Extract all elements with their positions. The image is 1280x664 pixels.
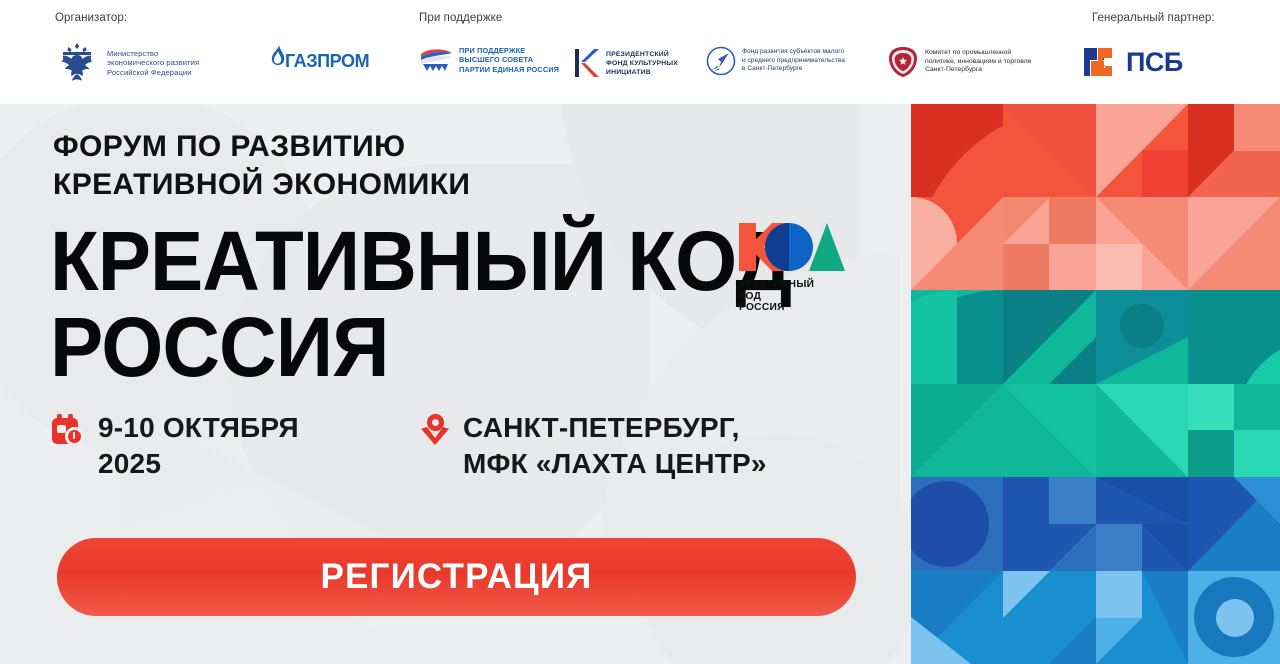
pattern-cell [911, 384, 1003, 477]
pattern-cell [1003, 197, 1096, 290]
pattern-cell [1096, 104, 1188, 197]
logo-spb-committee[interactable]: Комитет по промышленной политике, иннова… [888, 46, 1032, 78]
logo-psb[interactable]: ПСБ [1082, 46, 1183, 78]
pattern-cell [1096, 197, 1188, 290]
logo-presidential-fund-text: ПРЕЗИДЕНТСКИЙ ФОНД КУЛЬТУРНЫХ ИНИЦИАТИВ [606, 50, 678, 77]
spb-committee-crest-icon [888, 46, 918, 78]
general-partner-label: Генеральный партнер: [1092, 12, 1215, 24]
logo-psb-word: ПСБ [1126, 47, 1183, 78]
organizer-label: Организатор: [55, 12, 127, 24]
logo-edinaya-rossiya[interactable]: ПРИ ПОДДЕРЖКЕ ВЫСШЕГО СОВЕТА ПАРТИИ ЕДИН… [420, 46, 559, 74]
logo-sme-fund-text: Фонд развития субъектов малого и среднег… [742, 48, 845, 74]
pattern-cell [1188, 384, 1280, 477]
kkr-logo-shapes [739, 223, 845, 271]
kreativny-kod-rossiya-logo[interactable]: КРЕАТИВНЫЙ КОД РОССИЯ [739, 223, 851, 311]
edinaya-rossiya-flag-icon [420, 46, 454, 74]
psb-mark-icon [1082, 46, 1118, 78]
logo-ministry-text: Министерство экономического развития Рос… [107, 49, 199, 78]
pattern-cell [1096, 571, 1188, 664]
event-date: 9-10 ОКТЯБРЯ 2025 [52, 410, 299, 482]
logo-sme-fund-spb[interactable]: Фонд развития субъектов малого и среднег… [706, 46, 845, 76]
pattern-cell [1003, 571, 1096, 664]
pattern-cell [911, 477, 1003, 571]
kkr-letter-d-icon [809, 223, 845, 271]
pattern-cell [911, 197, 1003, 290]
gazprom-flame-icon [262, 44, 292, 78]
russian-coat-of-arms-icon [54, 40, 100, 86]
hero-section: ФОРУМ ПО РАЗВИТИЮ КРЕАТИВНОЙ ЭКОНОМИКИ К… [0, 104, 911, 664]
pattern-cell [1096, 477, 1188, 571]
pattern-cell [1188, 104, 1280, 197]
event-location-text: САНКТ-ПЕТЕРБУРГ, МФК «ЛАХТА ЦЕНТР» [463, 410, 767, 482]
kkr-logo-text: КРЕАТИВНЫЙ КОД РОССИЯ [739, 279, 814, 314]
kkr-letter-o-icon [765, 223, 813, 271]
presidential-fund-k-icon [574, 48, 600, 78]
registration-button[interactable]: РЕГИСТРАЦИЯ [57, 538, 856, 616]
pattern-cell [1188, 571, 1280, 664]
pattern-cell [1003, 477, 1096, 571]
logo-ministry-economic-development[interactable]: Министерство экономического развития Рос… [54, 40, 199, 86]
hero-kicker: ФОРУМ ПО РАЗВИТИЮ КРЕАТИВНОЙ ЭКОНОМИКИ [53, 128, 470, 204]
pattern-cell [1188, 290, 1280, 384]
logo-edinaya-rossiya-text: ПРИ ПОДДЕРЖКЕ ВЫСШЕГО СОВЕТА ПАРТИИ ЕДИН… [459, 46, 559, 74]
partners-bar: Организатор: При поддержке Генеральный п… [0, 0, 1280, 104]
sme-fund-arrow-icon [706, 46, 736, 76]
page-title: КРЕАТИВНЫЙ КОД РОССИЯ [50, 218, 791, 390]
pattern-cell [911, 290, 1003, 384]
pattern-row-blue [911, 477, 1280, 664]
pattern-cell [1188, 477, 1280, 571]
support-label: При поддержке [419, 12, 502, 24]
event-meta: 9-10 ОКТЯБРЯ 2025 САНКТ-ПЕТЕРБУРГ, МФК «… [0, 410, 911, 520]
pattern-cell [1096, 290, 1188, 384]
logo-gazprom[interactable]: ГАЗПРОМ [262, 44, 369, 78]
calendar-clock-icon [52, 414, 84, 446]
pattern-cell [1096, 384, 1188, 477]
geometric-decorative-pattern [911, 104, 1280, 664]
map-pin-icon [421, 414, 449, 446]
logo-presidential-fund[interactable]: ПРЕЗИДЕНТСКИЙ ФОНД КУЛЬТУРНЫХ ИНИЦИАТИВ [574, 48, 678, 78]
pattern-cell [911, 571, 1003, 664]
poster-root: Организатор: При поддержке Генеральный п… [0, 0, 1280, 664]
event-date-text: 9-10 ОКТЯБРЯ 2025 [98, 410, 299, 482]
pattern-cell [1003, 290, 1096, 384]
logo-gazprom-word: ГАЗПРОМ [285, 51, 369, 72]
pattern-cell [911, 104, 1003, 197]
logo-spb-committee-text: Комитет по промышленной политике, иннова… [925, 49, 1032, 75]
pattern-row-green [911, 290, 1280, 477]
pattern-cell [1003, 104, 1096, 197]
pattern-cell [1003, 384, 1096, 477]
pattern-row-red [911, 104, 1280, 290]
pattern-cell [1188, 197, 1280, 290]
event-location: САНКТ-ПЕТЕРБУРГ, МФК «ЛАХТА ЦЕНТР» [421, 410, 767, 482]
